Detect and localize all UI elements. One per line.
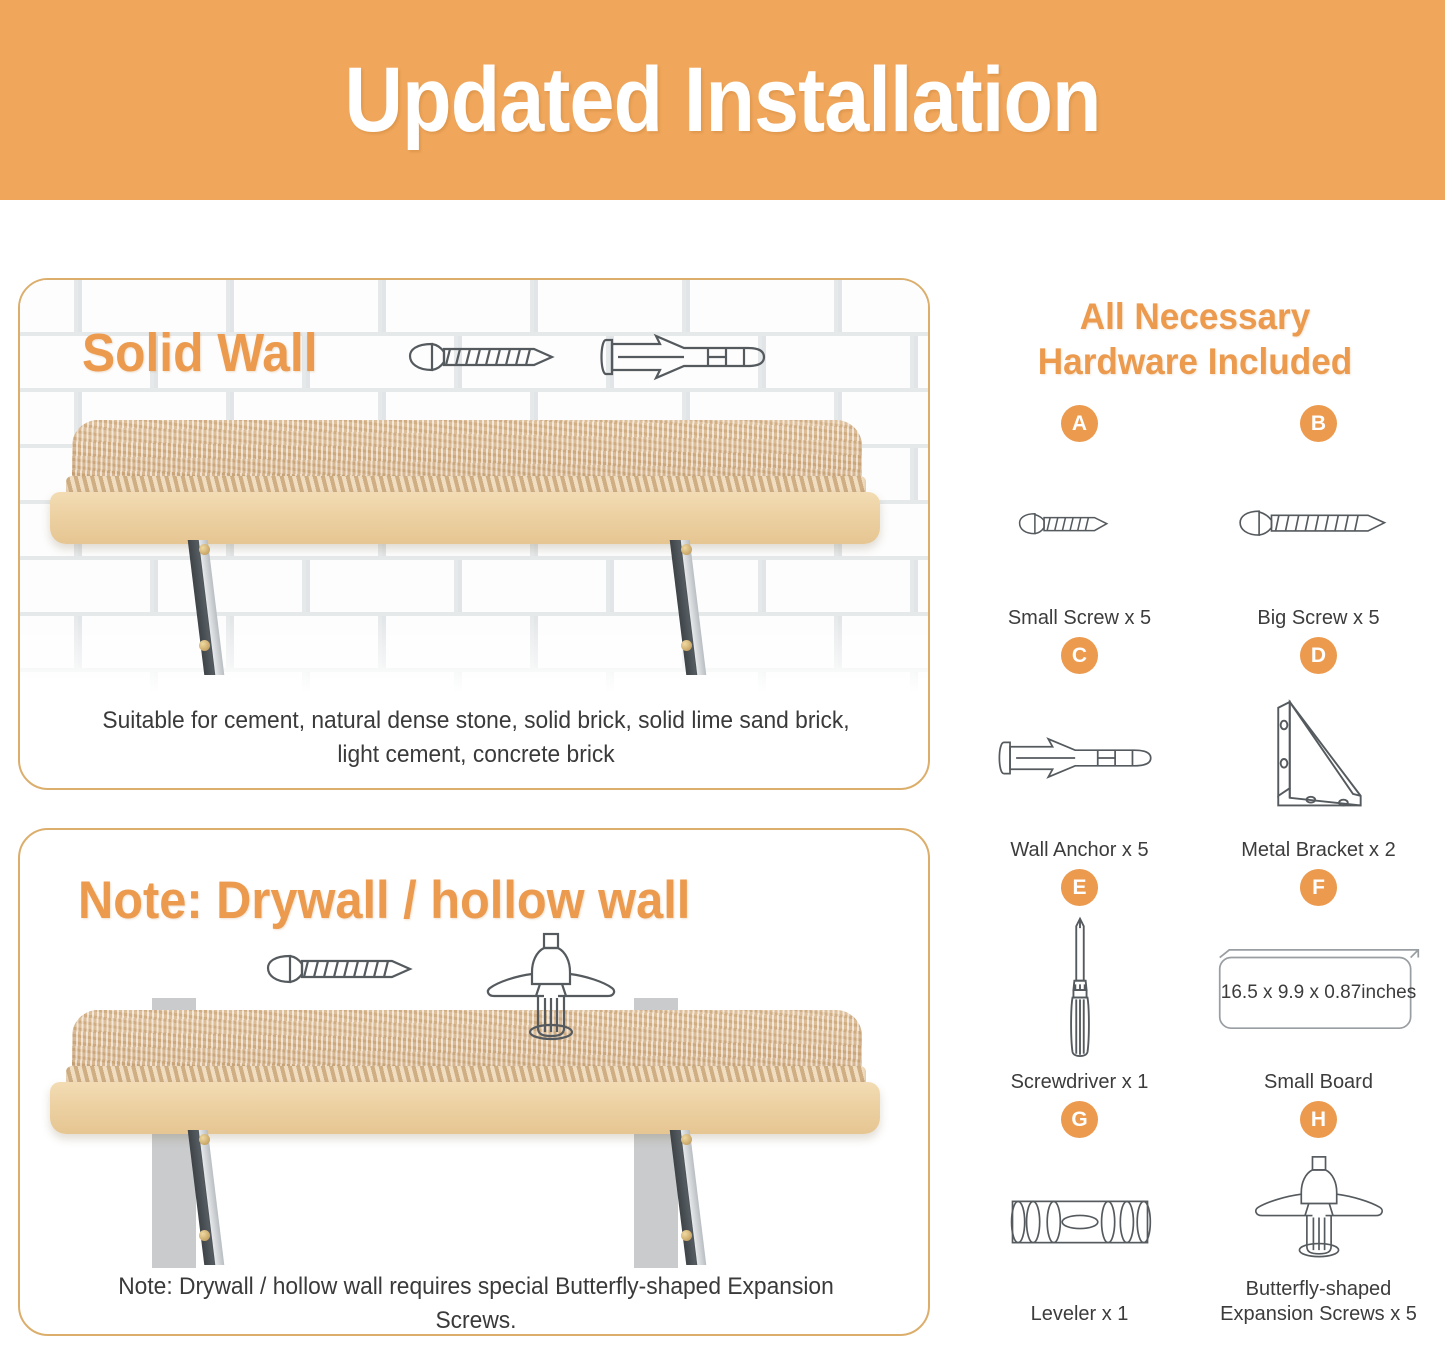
hardware-badge-d: D: [1300, 637, 1337, 674]
metal-bracket-icon: [1199, 678, 1438, 838]
hardware-grid: A Small Screw x 5 B Big Screw x 5 C: [960, 405, 1438, 1335]
hardware-item-small-board: F 16.5 x 9.9 x 0.87inches Small Board: [1199, 869, 1438, 1101]
small-screw-icon: [960, 446, 1199, 606]
screw-icon: [410, 344, 552, 370]
brick-tile: [918, 560, 928, 612]
hardware-label-metal-bracket: Metal Bracket x 2: [1241, 838, 1396, 869]
hardware-badge-e: E: [1061, 869, 1098, 906]
big-screw-icon: [1199, 446, 1438, 606]
shelf-wood-board: [50, 492, 880, 544]
hardware-label-big-screw: Big Screw x 5: [1257, 606, 1379, 637]
hardware-title-line1: All Necessary: [972, 294, 1419, 339]
hardware-label-small-screw: Small Screw x 5: [1008, 606, 1151, 637]
screwdriver-icon: [960, 910, 1199, 1070]
panel-heading-drywall: Note: Drywall / hollow wall: [78, 870, 690, 931]
hardware-badge-a: A: [1061, 405, 1098, 442]
hardware-badge-g: G: [1061, 1101, 1098, 1138]
brick-tile: [842, 280, 928, 332]
hardware-item-small-screw: A Small Screw x 5: [960, 405, 1199, 637]
hardware-section-title: All Necessary Hardware Included: [972, 294, 1419, 384]
brick-tile: [538, 280, 686, 332]
butterfly-anchor-icon: [488, 934, 614, 1039]
shelf-bracket-left: [190, 540, 224, 675]
hardware-label-butterfly-screw: Butterfly-shaped Expansion Screws x 5: [1199, 1277, 1438, 1333]
hardware-label-screwdriver: Screwdriver x 1: [1011, 1070, 1149, 1101]
shelf-bracket-right: [672, 540, 706, 675]
hardware-badge-b: B: [1300, 405, 1337, 442]
shelf-product-image-solid: [50, 420, 880, 665]
butterfly-anchor-icon: [1199, 1142, 1438, 1277]
panel-heading-solid-wall: Solid Wall: [82, 322, 318, 384]
panel-solid-wall: Solid Wall: [18, 278, 930, 790]
page-title: Updated Installation: [344, 48, 1100, 153]
brick-tile: [20, 280, 78, 332]
leveler-icon: [960, 1142, 1199, 1302]
page-header-banner: Updated Installation: [0, 0, 1445, 200]
panel-drywall: Note: Drywall / hollow wall: [18, 828, 930, 1336]
screw-icon: [268, 956, 410, 982]
shelf-bracket-left: [190, 1130, 224, 1265]
panel-caption-drywall: Note: Drywall / hollow wall requires spe…: [89, 1270, 863, 1336]
hardware-badge-h: H: [1300, 1101, 1337, 1138]
brick-tile: [690, 280, 838, 332]
hardware-label-wall-anchor: Wall Anchor x 5: [1010, 838, 1148, 869]
hardware-label-small-board: Small Board: [1264, 1070, 1373, 1101]
hardware-badge-c: C: [1061, 637, 1098, 674]
solid-wall-header-icons: [402, 332, 822, 394]
brick-tile: [918, 336, 928, 388]
wall-anchor-icon: [960, 678, 1199, 838]
hardware-label-leveler: Leveler x 1: [1031, 1302, 1129, 1333]
board-icon: 16.5 x 9.9 x 0.87inches: [1199, 910, 1438, 1070]
drywall-header-icons: [260, 930, 680, 1050]
hardware-badge-f: F: [1300, 869, 1337, 906]
shelf-wood-board: [50, 1082, 880, 1134]
brick-tile: [918, 448, 928, 500]
panel-caption-solid-wall: Suitable for cement, natural dense stone…: [89, 704, 863, 772]
hardware-item-metal-bracket: D Metal Bracket x 2: [1199, 637, 1438, 869]
hardware-title-line2: Hardware Included: [972, 339, 1419, 384]
wall-anchor-icon: [602, 336, 765, 378]
hardware-item-big-screw: B Big Screw x 5: [1199, 405, 1438, 637]
hardware-item-butterfly-screw: H Butterfly-shaped Expansion Screws x 5: [1199, 1101, 1438, 1333]
hardware-item-wall-anchor: C Wall Anchor x 5: [960, 637, 1199, 869]
shelf-bracket-right: [672, 1130, 706, 1265]
board-dimension-text: 16.5 x 9.9 x 0.87inches: [1221, 982, 1416, 1004]
shelf-woven-top: [72, 420, 862, 482]
hardware-item-leveler: G Leveler x 1: [960, 1101, 1199, 1333]
hardware-item-screwdriver: E Screwdriver x 1: [960, 869, 1199, 1101]
brick-tile: [386, 280, 534, 332]
